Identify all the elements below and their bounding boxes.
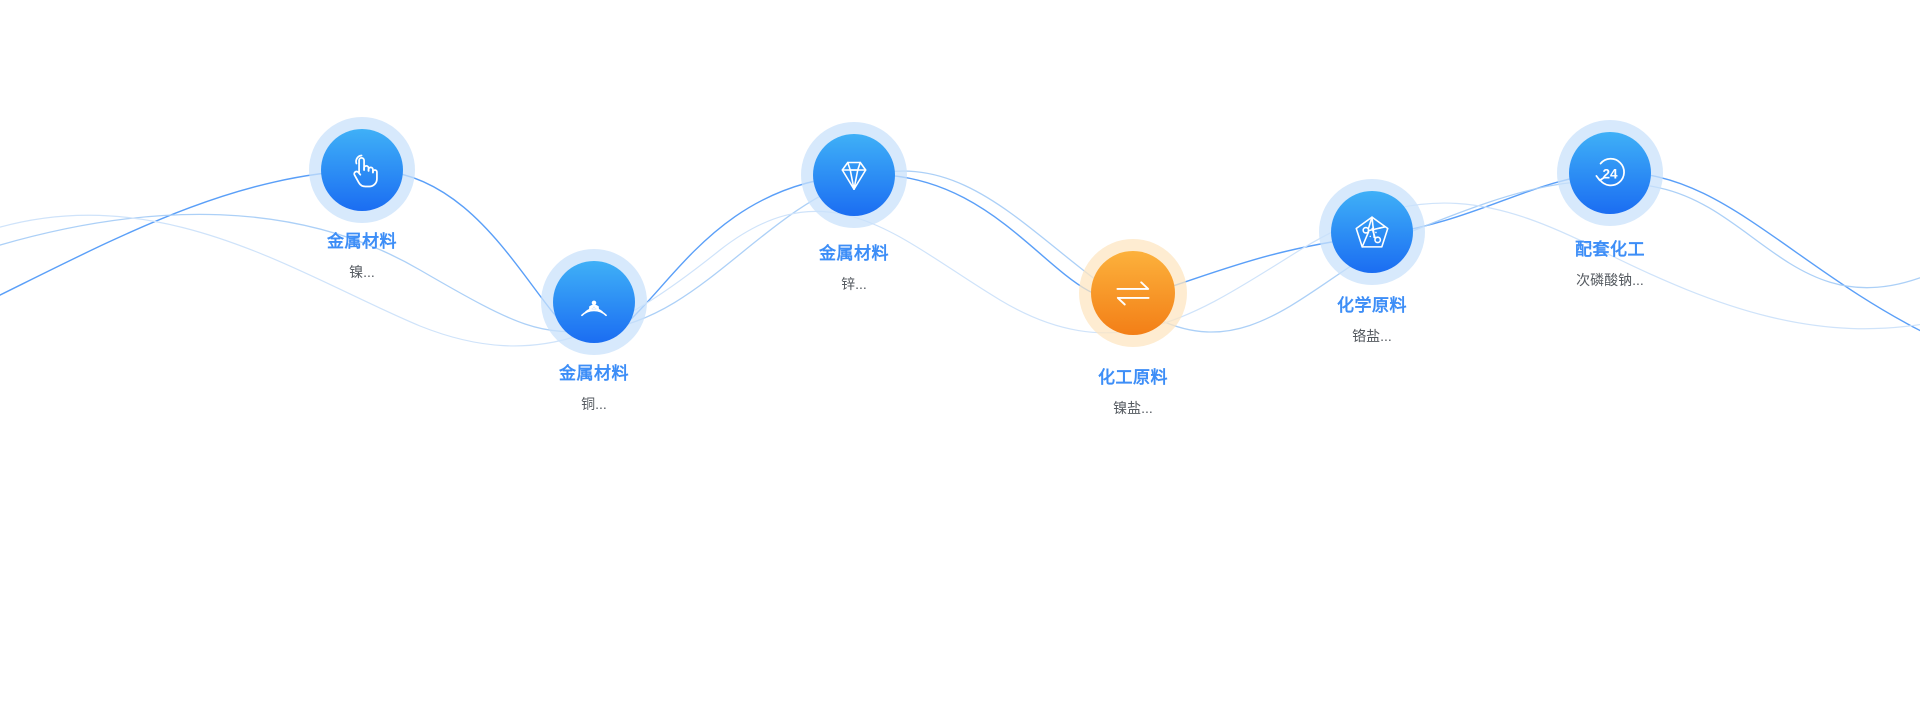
- node-title: 金属材料: [327, 232, 397, 252]
- node-label-group: 金属材料锌...: [819, 244, 889, 293]
- node-disc[interactable]: [813, 134, 895, 216]
- node-title: 化工原料: [1098, 368, 1168, 388]
- node-title: 配套化工: [1575, 240, 1645, 260]
- node-label-group: 化工原料镍盐...: [1098, 368, 1168, 417]
- node-subtitle: 次磷酸钠...: [1575, 272, 1645, 289]
- svg-text:24: 24: [1602, 167, 1618, 182]
- node-disc[interactable]: [1091, 251, 1175, 335]
- node-title: 化学原料: [1337, 296, 1407, 316]
- radar-signal-icon: [573, 281, 615, 323]
- node-disc[interactable]: [553, 261, 635, 343]
- node-title: 金属材料: [819, 244, 889, 264]
- node-disc[interactable]: 24: [1569, 132, 1651, 214]
- node-subtitle: 镍...: [327, 264, 397, 281]
- supply-chain-flow-diagram: 金属材料镍... 金属材料铜... 金属材料锌... 化工原料镍盐...: [0, 0, 1920, 718]
- background-flow-curves: [0, 0, 1920, 718]
- twenty-four-hour-icon: 24: [1589, 152, 1631, 194]
- node-subtitle: 铬盐...: [1337, 328, 1407, 345]
- pointing-hand-icon: [342, 150, 382, 190]
- diamond-icon: [832, 155, 876, 195]
- node-subtitle: 铜...: [559, 396, 629, 413]
- node-disc[interactable]: [1331, 191, 1413, 273]
- node-label-group: 配套化工次磷酸钠...: [1575, 240, 1645, 289]
- node-disc[interactable]: [321, 129, 403, 211]
- node-subtitle: 锌...: [819, 276, 889, 293]
- node-title: 金属材料: [559, 364, 629, 384]
- exchange-arrows-icon: [1110, 273, 1156, 313]
- node-subtitle: 镍盐...: [1098, 400, 1168, 417]
- node-label-group: 金属材料镍...: [327, 232, 397, 281]
- node-label-group: 金属材料铜...: [559, 364, 629, 413]
- pentagon-molecule-icon: [1351, 211, 1393, 253]
- node-label-group: 化学原料铬盐...: [1337, 296, 1407, 345]
